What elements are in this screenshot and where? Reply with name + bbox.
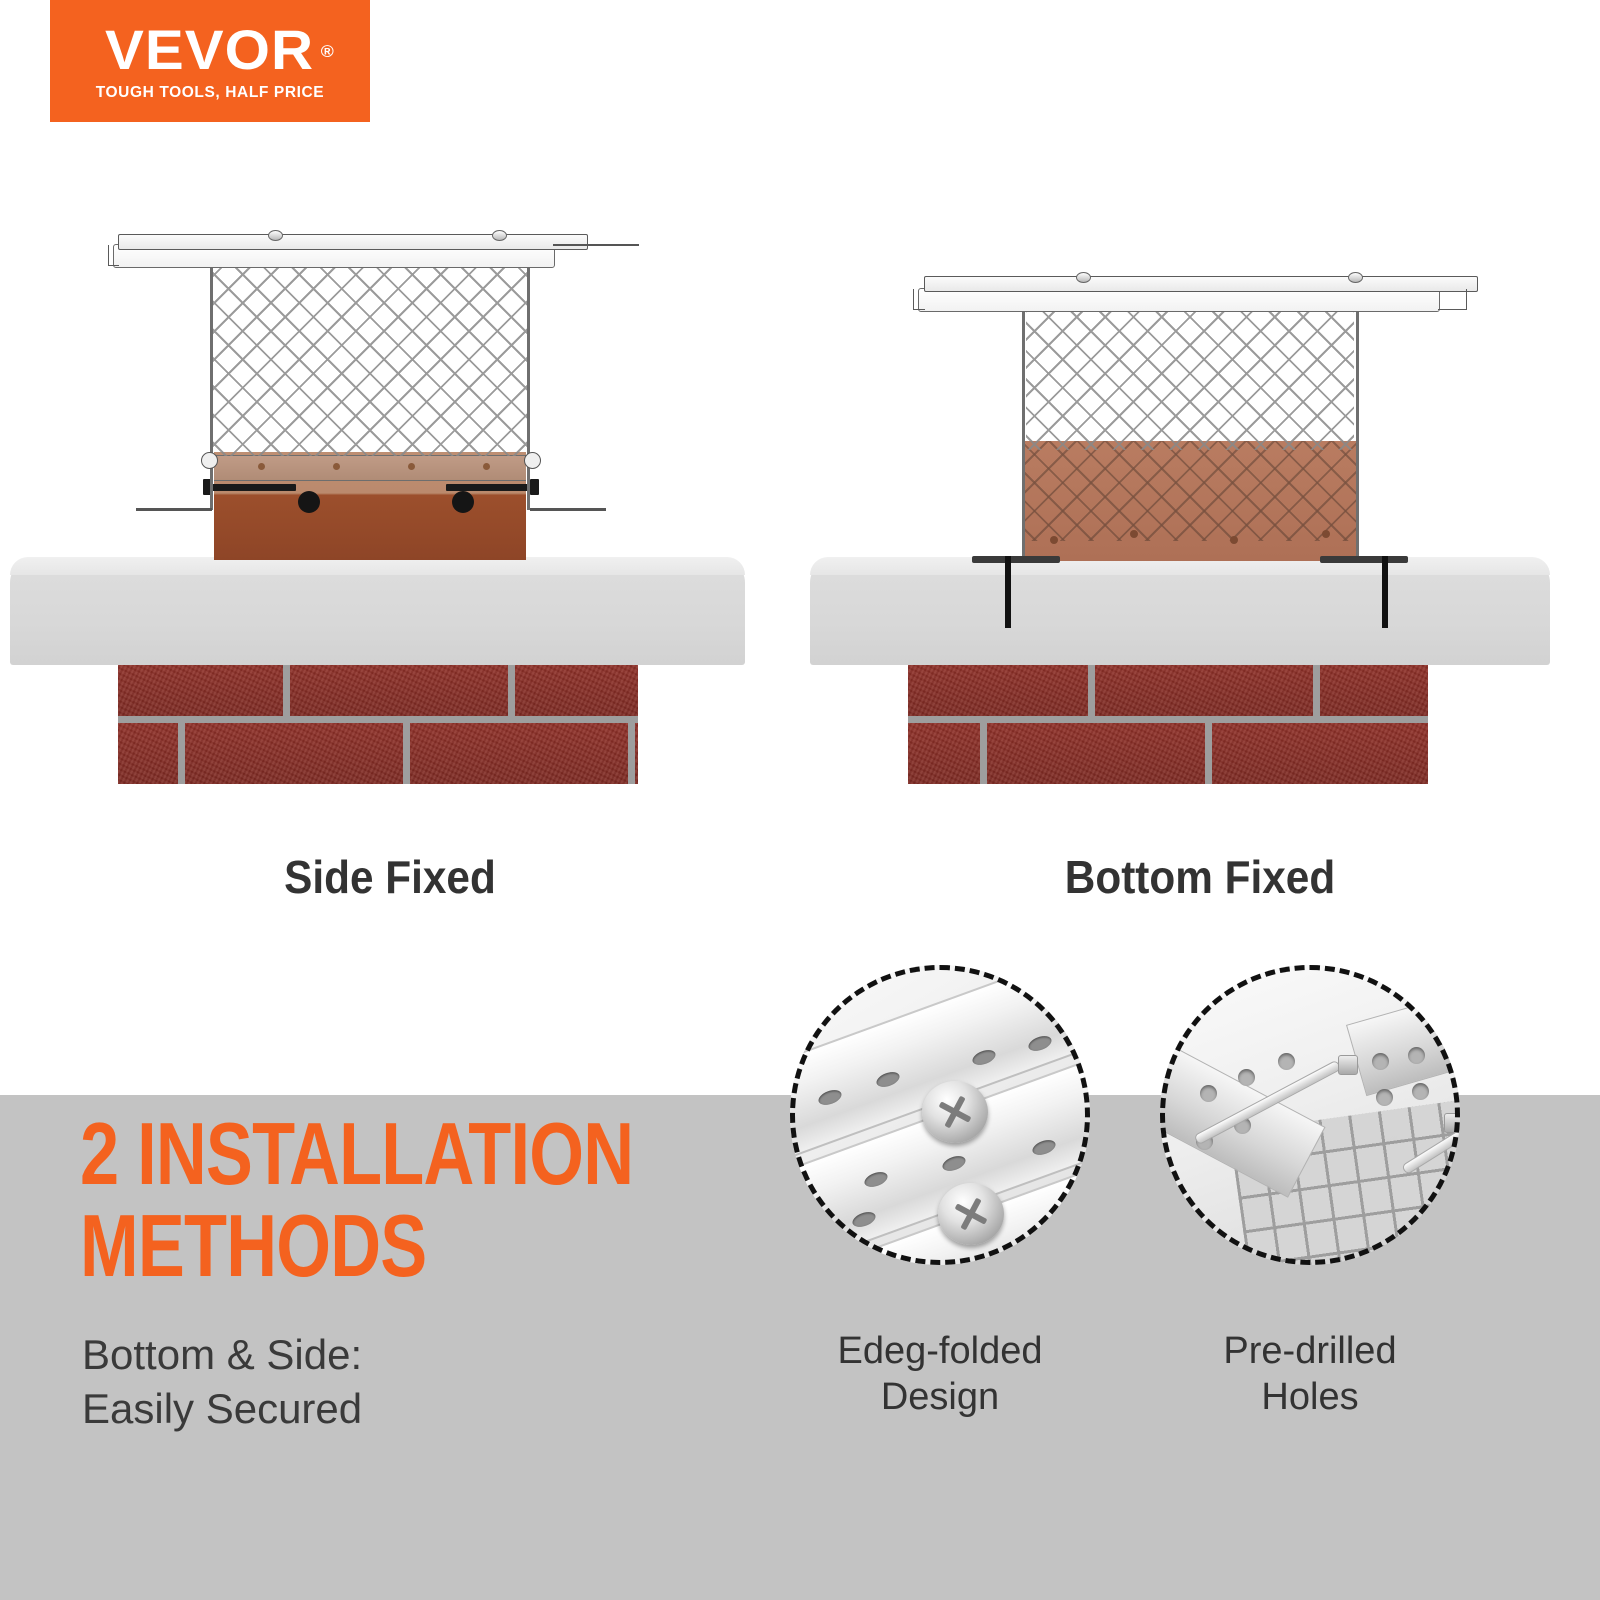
caption-pre-drilled-line-1: Pre-drilled [1160,1328,1460,1374]
side-fixing-screw-left [208,484,296,491]
bottom-anchor-plate-left [972,556,1060,563]
feature-photo-edge-folded [790,965,1090,1265]
cap-base-rail-left [136,508,212,511]
phillips-screw-upper [922,1081,988,1143]
chimney-crown-slab [810,557,1550,665]
headline-block: 2 INSTALLATION METHODS [80,1108,740,1292]
chimney-cap-lid-top [118,234,588,250]
flue-screw-boss [1322,530,1330,538]
band-rivet [258,463,265,470]
lid-bolt [492,230,507,241]
lid-bolt [1348,272,1363,283]
pre-drilled-hole [1200,1085,1217,1102]
lid-edge-lip-right [1438,289,1467,310]
band-rivet [483,463,490,470]
side-fixing-screw-right [446,484,534,491]
chimney-crown-slab [10,557,745,665]
rod-nut-left [1338,1055,1358,1075]
cap-leg-left [210,258,213,510]
band-rivet [333,463,340,470]
flue-screw-boss [1050,536,1058,544]
phillips-screw-lower [938,1183,1004,1245]
pre-drilled-hole [1372,1053,1389,1070]
side-screw-head-right [530,479,539,495]
diagram-bottom-fixed: Bottom Fixed [800,0,1600,940]
band-rivet [408,463,415,470]
subtext-line-1: Bottom & Side: [82,1328,702,1382]
pre-drilled-hole [1376,1089,1393,1106]
caption-edge-folded-line-1: Edeg-folded [790,1328,1090,1374]
flue-screw-boss [1130,530,1138,538]
cap-leg-right [527,258,530,510]
bottom-fixing-anchor-left [1005,556,1011,628]
caption-pre-drilled: Pre-drilled Holes [1160,1328,1460,1420]
diagram-label-bottom-fixed: Bottom Fixed [915,850,1485,904]
cap-base-rail-right [530,508,606,511]
headline-line-2: METHODS [80,1200,608,1292]
caption-edge-folded: Edeg-folded Design [790,1328,1090,1420]
cap-leg-right [1356,300,1359,562]
bottom-anchor-plate-right [1320,556,1408,563]
rod-nut-right [1444,1113,1460,1133]
lid-edge-lip-left [913,289,925,310]
pre-drilled-hole [1238,1069,1255,1086]
lid-overhang-right [553,244,639,246]
bottom-fixing-anchor-right [1382,556,1388,628]
pre-drilled-hole [1444,1041,1460,1058]
lid-bolt [268,230,283,241]
diagram-label-side-fixed: Side Fixed [151,850,629,904]
cap-leg-left [1022,300,1025,562]
flue-screw-boss [298,491,320,513]
spark-arrestor-mesh [212,256,528,456]
leg-pivot-right [524,452,541,469]
pre-drilled-hole [1412,1083,1429,1100]
feature-photo-pre-drilled [1160,965,1460,1265]
mesh-over-flue [1022,441,1358,541]
chimney-brick-wall [118,662,638,784]
subtext-line-2: Easily Secured [82,1382,702,1436]
headline-line-1: 2 INSTALLATION [80,1108,608,1200]
leg-pivot-left [201,452,218,469]
subtext-block: Bottom & Side: Easily Secured [82,1328,702,1436]
chimney-brick-wall [908,662,1428,784]
infographic-page: VEVOR ® TOUGH TOOLS, HALF PRICE [0,0,1600,1600]
spark-arrestor-mesh [1026,300,1354,450]
flue-screw-boss [1230,536,1238,544]
chimney-cap-lid-top [924,276,1478,292]
lid-bolt [1076,272,1091,283]
pre-drilled-hole [1278,1053,1295,1070]
pre-drilled-hole [1408,1047,1425,1064]
flue-screw-boss [452,491,474,513]
diagram-side-fixed: Side Fixed [0,0,800,940]
caption-edge-folded-line-2: Design [790,1374,1090,1420]
caption-pre-drilled-line-2: Holes [1160,1374,1460,1420]
lid-edge-lip-left [108,245,119,266]
